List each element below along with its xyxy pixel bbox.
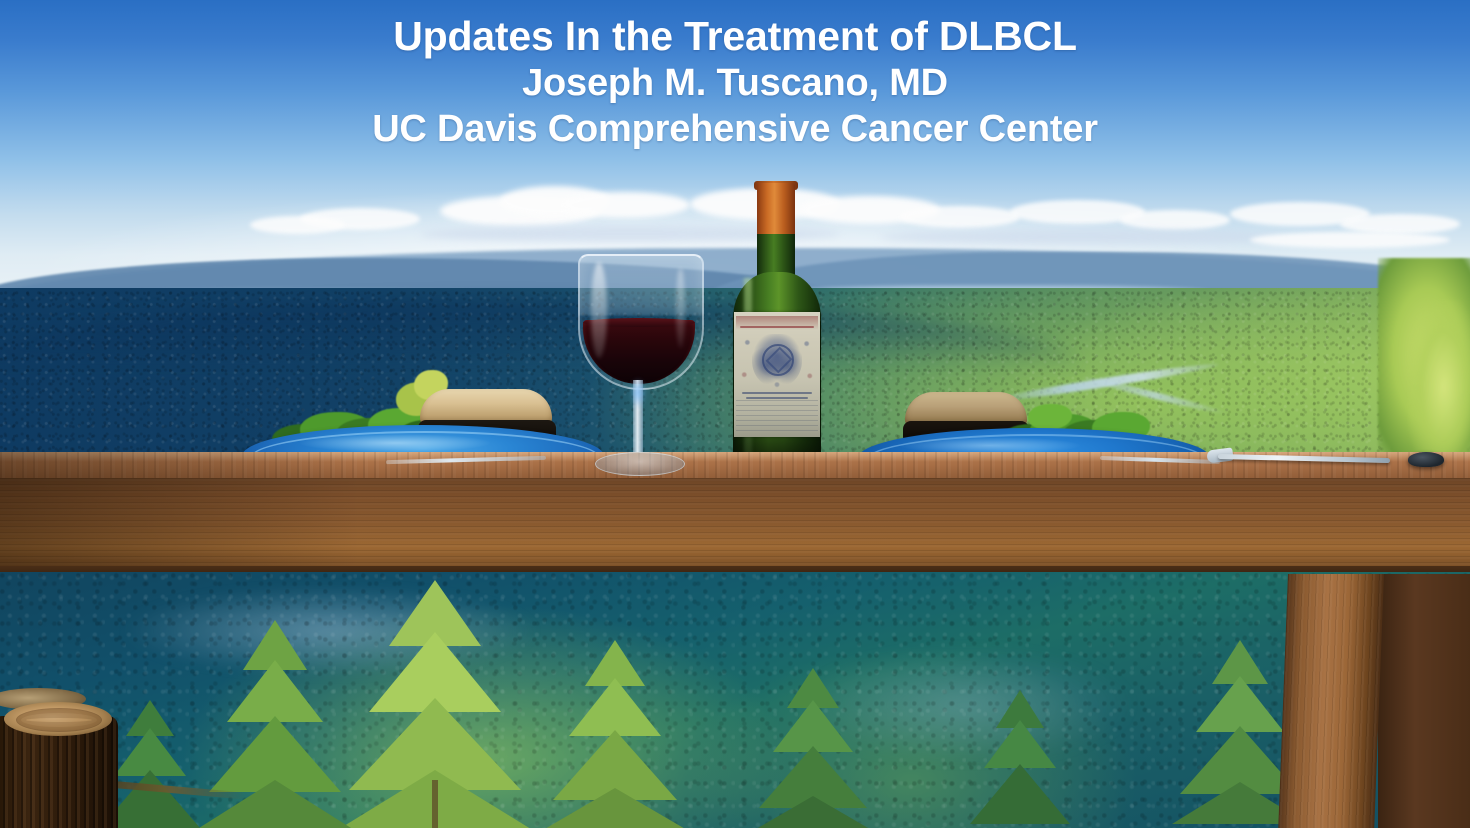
conifer-tree <box>330 580 540 828</box>
cloud <box>560 192 690 218</box>
glass-stem-glow <box>630 378 646 408</box>
cloud <box>880 230 1280 244</box>
bottle-label-rule <box>740 326 814 328</box>
slide-title-line-1: Updates In the Treatment of DLBCL <box>0 14 1470 58</box>
plate-gloss <box>300 434 490 452</box>
railing-shadow <box>0 452 360 574</box>
glass-highlight <box>676 268 685 348</box>
bottle-label-rule <box>746 397 808 399</box>
conifer-tree <box>540 640 690 828</box>
slide-title-line-2: Joseph M. Tuscano, MD <box>0 63 1470 104</box>
slide-title-block: Updates In the Treatment of DLBCL Joseph… <box>0 14 1470 150</box>
bottle-capsule <box>757 183 795 237</box>
cloud <box>1120 210 1230 230</box>
wine-glass-base <box>595 452 685 476</box>
railing-post-grain <box>1278 574 1384 828</box>
tree-stump-growth-rings <box>16 708 102 732</box>
sunlit-tree <box>1408 300 1470 475</box>
railing-post-far <box>1378 574 1470 828</box>
cloud <box>1340 214 1460 234</box>
bottle-label-text-block <box>736 400 818 434</box>
presentation-slide: Updates In the Treatment of DLBCL Joseph… <box>0 0 1470 828</box>
conifer-tree <box>748 668 878 828</box>
cloud <box>900 206 1020 228</box>
glass-highlight <box>591 262 607 358</box>
dark-object-on-rail <box>1408 452 1444 467</box>
bottle-label-rule <box>742 392 812 394</box>
cloud <box>1250 232 1450 248</box>
slide-title-line-3: UC Davis Comprehensive Cancer Center <box>0 109 1470 150</box>
conifer-tree <box>960 690 1080 828</box>
cloud <box>250 216 345 234</box>
